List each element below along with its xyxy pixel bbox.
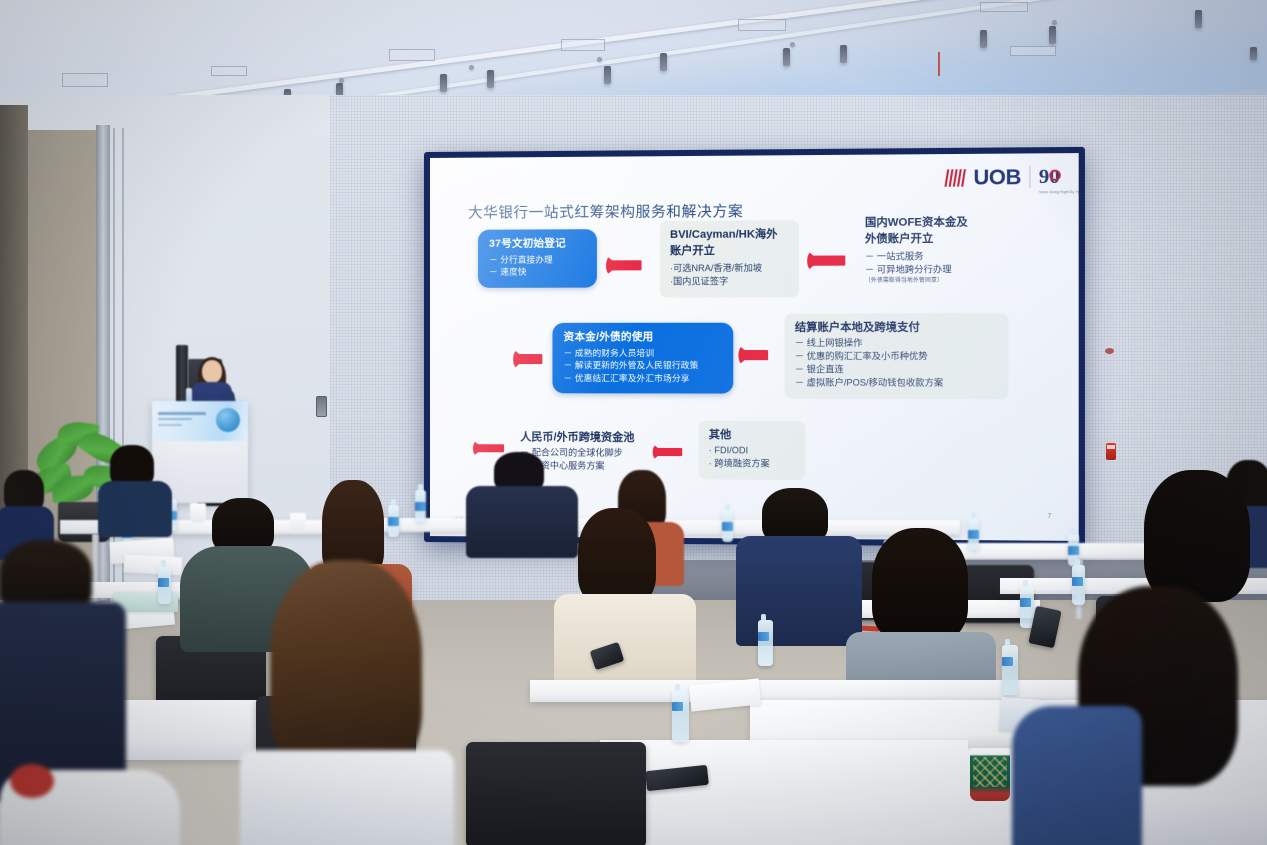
box-heading-line1: 国内WOFE资本金及 [865,215,1028,230]
ceiling-spotlight [783,48,790,66]
attendee-hair [578,508,656,606]
takeaway-coffee-cup [968,735,1012,801]
attendee-grey-sweater [850,528,990,698]
water-bottle [722,510,733,542]
ceiling-air-vent [211,66,247,76]
ceiling-spotlight [840,45,847,63]
ceiling-spotlight [604,66,611,84]
attendee [100,445,170,529]
box-heading-line2: 外债账户开立 [865,232,1028,247]
sprinkler-head [469,65,474,70]
presenter-head [202,360,222,383]
anniversary-tagline: Years Doing Right By You [1039,190,1079,194]
box-heading: 结算账户本地及跨境支付 [795,320,997,335]
slide-title: 大华银行一站式红筹架构服务和解决方案 [468,200,743,223]
ceiling-spotlight [980,30,987,48]
box-note: （外债需取得当地外管同意） [865,277,1028,285]
box-heading-line2: 账户开立 [670,244,788,259]
box-item: － 一站式服务 [865,249,1028,263]
box-heading: 资本金/外债的使用 [564,331,724,344]
conference-room-scene: EXIT UOB 90 Years Doing Right By You [0,0,1267,845]
box-item: － 线上网银操作 [795,337,997,350]
podium-banner-text-line [158,418,192,420]
sprinkler-head [1052,20,1057,25]
podium-banner-text-line [158,412,206,415]
slide-box-step-2: BVI/Cayman/HK海外 账户开立 ·可选NRA/香港/新加坡 ·国内见证… [660,220,799,297]
attendee-front-white-coat [0,770,180,845]
ceiling-spotlight [660,53,667,71]
slide-box-step-1: 37号文初始登记 － 分行直接办理 － 速度快 [478,229,597,287]
ceiling-air-vent [980,2,1028,12]
box-item: － 虚拟账户/POS/移动钱包收款方案 [795,377,997,391]
water-bottle [758,620,773,666]
box-item: － 分行直接办理 [489,254,587,267]
ceiling-air-vent [738,19,786,31]
box-item: · FDI/ODI [709,444,794,458]
logo-divider [1029,166,1030,189]
attendee-torso [554,594,696,686]
box-item: － 可异地跨分行办理 [865,263,1028,277]
ceiling-spotlight [440,74,447,92]
attendee-hair [270,560,422,776]
water-bottle [672,690,689,742]
uob-logo: UOB 90 Years Doing Right By You [946,166,1060,189]
anniversary-badge: 90 Years Doing Right By You [1039,167,1060,188]
arrow-step4-to-step5 [739,350,768,360]
attendee-torso [1012,706,1142,845]
attendee-hair [872,528,968,642]
chair [466,742,646,845]
slide-box-step-7: 其他 · FDI/ODI · 跨境融资方案 [699,421,806,481]
attendee-torso [736,536,862,646]
slide-box-step-4: 资本金/外债的使用 － 成熟的财务人员培训 － 解读更新的外管及人民银行政策 －… [552,323,733,394]
water-bottle [1002,645,1018,695]
slide-page-number: 7 [1047,513,1051,520]
attendee-torso [240,750,454,845]
sprinkler-head [339,78,344,83]
box-item: － 银企直连 [795,364,997,377]
box-item: ·可选NRA/香港/新加坡 [670,261,788,275]
smoke-detector-icon [1105,348,1114,354]
attendee-scarf [10,764,54,798]
water-bottle [415,490,426,522]
ceiling-spotlight [1195,10,1202,28]
conference-table-front [600,740,1020,845]
sprinkler-head [597,57,602,62]
attendee-navy-top [736,488,860,648]
box-item: － 成熟的财务人员培训 [564,347,724,359]
ceiling-spotlight [487,70,494,88]
attendee-cream-sweater [560,508,692,668]
attendee-torso [98,481,172,537]
box-heading: 人民币/外币跨境资金池 [520,430,669,445]
attendee-front-long-hair [244,560,444,845]
box-item: － 优惠结汇汇率及外汇市场分享 [564,372,724,385]
ceiling-air-vent [561,39,605,51]
arrow-into-step4 [514,354,542,364]
ceiling-spotlight [1049,26,1056,44]
slide-box-step-3: 国内WOFE资本金及 外债账户开立 － 一站式服务 － 可异地跨分行办理 （外债… [863,208,1040,294]
water-bottle [158,566,171,604]
anniversary-ring-icon [1049,170,1061,181]
attendee-hair [1144,470,1250,602]
arrow-step2-to-step3 [808,255,845,265]
ceiling-air-vent [62,73,108,87]
box-heading: 其他 [709,428,794,443]
podium-banner-text-line [158,424,182,426]
arrow-step6-to-step7 [654,447,683,457]
ceiling-air-vent [1010,46,1056,56]
uob-hatch-icon [946,169,965,186]
box-item: － 速度快 [489,266,587,279]
podium-banner [152,401,248,441]
box-heading: 37号文初始登记 [489,237,587,251]
handout-paper [124,554,183,575]
box-item: － 解读更新的外管及人民银行政策 [564,359,724,371]
uob-wordmark: UOB [973,166,1021,188]
light-switch-panel[interactable] [316,396,327,417]
podium-banner-globe-icon [216,408,240,432]
ceiling-air-vent [389,49,435,61]
arrow-step1-to-step2 [607,260,641,270]
ceiling-spotlight [1250,47,1257,60]
fire-alarm-icon [1106,443,1116,460]
attendee-front-blue-knit [1034,586,1264,845]
attendee [0,470,56,550]
box-item: · 跨境融资方案 [709,458,794,472]
slide-box-step-5: 结算账户本地及跨境支付 － 线上网银操作 － 优惠的购汇汇率及小币种优势 － 银… [785,313,1009,399]
box-item: － 优惠的购汇汇率及小币种优势 [795,350,997,363]
cup-pattern [973,757,1007,787]
box-heading-line1: BVI/Cayman/HK海外 [670,227,788,242]
box-item: ·国内见证签字 [670,275,788,289]
fire-pipe-marker [938,52,940,76]
sprinkler-head [790,42,795,47]
